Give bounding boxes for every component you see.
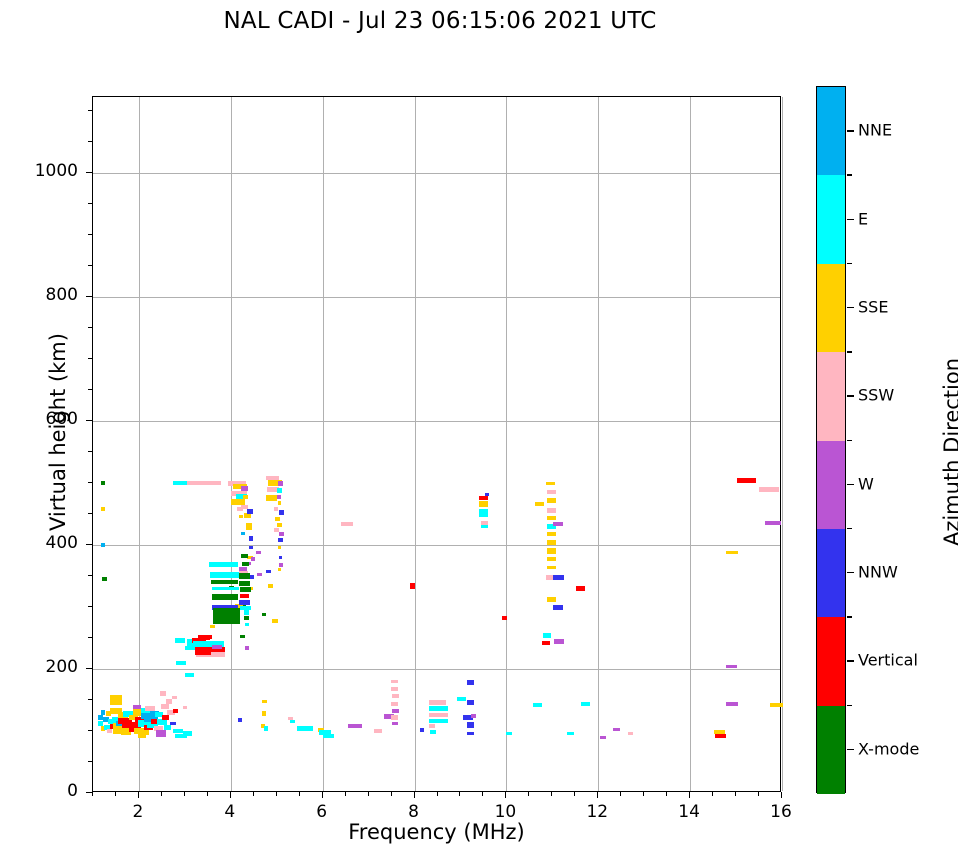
x-tick-major [230,792,231,798]
y-tick-label: 200 [16,657,78,677]
colorbar-segment-e [817,175,845,263]
x-tick-minor [528,792,529,796]
echo-mark [576,586,585,590]
y-tick-minor [88,637,92,638]
echo-mark [239,600,250,605]
echo-mark [243,495,249,499]
y-tick-minor [88,265,92,266]
colorbar-boundary-tick [847,351,852,352]
echo-mark [262,700,267,703]
echo-mark [323,734,334,738]
echo-mark [547,532,555,536]
echo-mark [274,507,279,511]
x-tick-minor [299,792,300,796]
colorbar-label-sse: SSE [858,297,888,316]
echo-mark [278,568,282,571]
echo-mark [553,522,563,526]
x-tick-minor [92,792,93,796]
echo-mark [170,722,176,726]
echo-mark [246,523,252,529]
echo-mark [244,610,250,615]
colorbar-tick [847,572,854,573]
echo-mark [279,556,283,560]
echo-mark [212,594,238,600]
echo-mark [391,680,398,684]
echo-mark [420,728,425,732]
echo-mark [239,515,244,518]
echo-mark [481,525,488,528]
echo-mark [581,702,590,706]
echo-mark [533,703,542,707]
echo-mark [410,583,416,589]
echo-mark [430,730,436,734]
echo-mark [264,726,268,730]
x-tick-label: 10 [475,802,535,822]
echo-mark [429,724,435,728]
colorbar-tick [847,484,854,485]
y-tick-major [86,792,92,793]
x-tick-minor [207,792,208,796]
x-tick-minor [459,792,460,796]
y-tick-major [86,668,92,669]
echo-mark [245,623,249,626]
colorbar-segment-nne [817,87,845,175]
echo-mark [175,638,185,643]
echo-mark [278,481,283,486]
x-tick-minor [574,792,575,796]
x-tick-major [689,792,690,798]
y-tick-minor [88,699,92,700]
y-tick-minor [88,730,92,731]
colorbar-segment-vertical [817,617,845,705]
y-tick-minor [88,389,92,390]
x-tick-major [781,792,782,798]
x-tick-major [138,792,139,798]
echo-mark [240,635,245,638]
x-tick-minor [161,792,162,796]
x-tick-minor [551,792,552,796]
echo-mark [278,546,282,550]
y-tick-minor [88,358,92,359]
x-tick-minor [758,792,759,796]
echo-mark [543,633,551,637]
x-tick-major [597,792,598,798]
y-tick-minor [88,451,92,452]
echo-mark [502,616,508,620]
echo-mark [429,719,447,723]
echo-mark [547,508,555,513]
echo-mark [547,516,555,520]
colorbar-label-ssw: SSW [858,386,894,405]
echo-mark [374,729,382,732]
x-tick-minor [391,792,392,796]
echo-mark [172,696,177,700]
echo-mark [278,501,282,505]
echo-mark [547,566,555,569]
echo-mark [166,699,172,704]
y-tick-minor [88,482,92,483]
echo-mark [240,594,249,598]
echo-mark [485,493,490,496]
x-tick-minor [184,792,185,796]
x-tick-minor [253,792,254,796]
echo-mark [471,714,477,718]
colorbar-segment-nnw [817,529,845,617]
echo-mark [391,687,398,691]
echo-mark [613,728,619,731]
echo-mark [245,646,249,649]
echo-mark [212,645,222,649]
echo-mark [429,713,447,717]
page-title: NAL CADI - Jul 23 06:15:06 2021 UTC [0,8,880,34]
y-tick-label: 1000 [16,161,78,181]
echo-mark [600,736,606,739]
echo-mark [547,557,555,561]
colorbar-title: Azimuth Direction [940,292,958,612]
echo-mark [467,700,474,706]
echo-mark [210,572,238,578]
colorbar-label-vertical: Vertical [858,651,918,670]
echo-mark [244,616,249,620]
echo-mark [759,487,778,492]
colorbar-boundary-tick [847,705,852,706]
x-tick-major [322,792,323,798]
echo-mark [547,548,555,554]
echo-mark [457,697,465,701]
echo-mark [237,507,243,511]
echo-mark [726,702,738,706]
echo-mark [547,597,555,601]
x-tick-label: 14 [659,802,719,822]
y-tick-major [86,296,92,297]
echo-mark [272,619,278,623]
colorbar-tick [847,660,854,661]
echo-mark [290,720,295,723]
echo-mark [238,718,243,722]
echo-mark [138,734,146,739]
colorbar-label-e: E [858,209,868,228]
colorbar-boundary-tick [847,263,852,264]
colorbar-boundary-tick [847,528,852,529]
echo-mark [547,540,555,546]
x-tick-minor [643,792,644,796]
x-tick-label: 4 [200,802,260,822]
echo-mark [249,546,254,550]
echo-mark [98,715,103,719]
colorbar-segment-w [817,441,845,529]
echo-mark [250,575,255,579]
echo-mark [553,575,564,580]
y-tick-minor [88,606,92,607]
echo-mark [161,704,169,709]
echo-mark [102,577,107,581]
y-tick-major [86,420,92,421]
colorbar-tick [847,749,854,750]
x-tick-minor [368,792,369,796]
echo-mark [212,587,239,591]
echo-mark [266,570,271,573]
echo-mark [241,554,247,558]
y-tick-minor [88,761,92,762]
echo-mark [467,722,474,728]
echo-mark [101,710,106,714]
echo-mark [429,706,447,711]
echo-mark [98,721,103,725]
echo-mark [546,482,554,485]
echo-mark [554,639,564,644]
echo-mark [240,587,250,592]
echo-mark [547,498,555,504]
echo-mark [251,557,256,561]
y-tick-minor [88,203,92,204]
echo-mark [535,502,543,506]
colorbar-label-w: W [858,474,874,493]
echo-mark [162,715,169,720]
echo-mark [210,625,215,628]
echo-mark [239,573,250,579]
echo-mark [256,551,261,554]
colorbar-segment-ssw [817,352,845,440]
echo-mark [176,661,186,665]
x-tick-minor [115,792,116,796]
y-tick-minor [88,234,92,235]
echo-mark [297,726,314,730]
echo-mark [156,730,166,736]
colorbar-tick [847,395,854,396]
colorbar-label-nne: NNE [858,121,892,140]
echo-mark [277,488,282,493]
echo-mark [239,581,250,586]
echo-mark [628,732,634,735]
echo-mark [107,729,112,733]
echo-mark [241,532,245,535]
echo-mark [213,608,240,624]
colorbar-segment-sse [817,264,845,352]
echo-mark [479,501,487,507]
echo-mark [542,641,549,645]
colorbar-tick [847,219,854,220]
colorbar-segment-x-mode [817,706,845,794]
echo-mark [278,538,283,542]
echo-mark [770,703,784,707]
echo-mark [183,706,188,710]
colorbar-label-nnw: NNW [858,563,898,582]
y-tick-minor [88,110,92,111]
echo-mark [160,691,166,696]
x-tick-minor [666,792,667,796]
y-tick-minor [88,513,92,514]
echo-mark [209,562,237,567]
echo-mark [547,490,555,494]
echo-mark [262,711,266,716]
echo-mark [479,496,487,501]
y-tick-minor [88,575,92,576]
echo-mark [429,700,446,704]
echo-mark [173,709,178,713]
echo-mark [110,695,122,705]
x-tick-minor [620,792,621,796]
echo-mark [765,521,782,525]
x-tick-major [414,792,415,798]
echo-mark [279,563,283,567]
echo-mark [266,495,277,501]
echo-mark [467,680,474,686]
echo-mark [195,650,211,655]
echo-mark [275,517,280,521]
colorbar-boundary-tick [847,440,852,441]
echo-mark [187,481,221,485]
y-tick-major [86,172,92,173]
azimuth-colorbar [816,86,846,793]
echo-mark [185,673,193,677]
echo-mark [242,562,248,566]
echo-mark [279,510,284,515]
echo-mark [726,551,738,555]
echo-mark [737,478,756,482]
y-tick-minor [88,327,92,328]
echo-mark [101,481,106,485]
y-tick-label: 0 [16,781,78,801]
x-tick-minor [345,792,346,796]
echo-mark [204,636,210,640]
x-tick-label: 6 [292,802,352,822]
echo-mark [506,732,512,736]
y-tick-minor [88,141,92,142]
echo-mark [391,702,398,706]
echo-mark [277,523,282,527]
x-tick-label: 12 [567,802,627,822]
echo-mark [715,734,726,738]
y-axis-title: Virtual height (km) [46,282,70,582]
x-axis-title: Frequency (MHz) [92,820,781,844]
x-tick-minor [276,792,277,796]
echo-mark [164,725,171,730]
echo-mark [183,731,192,736]
echo-mark [241,486,247,491]
x-tick-major [505,792,506,798]
echo-mark [391,715,397,719]
echo-mark [268,584,273,587]
x-tick-label: 2 [108,802,168,822]
echo-mark [211,580,239,584]
echo-mark [392,722,398,726]
colorbar-boundary-tick [847,174,852,175]
ionogram-plot-area [92,96,781,792]
echo-mark [348,724,362,728]
colorbar-tick [847,307,854,308]
echo-mark [341,522,353,526]
echo-mark [257,573,262,576]
colorbar-boundary-tick [847,616,852,617]
echo-mark [276,495,281,499]
echo-mark [249,536,254,541]
echo-mark [262,613,267,616]
echo-mark [392,694,399,698]
echo-mark [467,732,473,735]
echo-mark [279,532,284,536]
echo-marks-layer [93,97,780,791]
echo-mark [553,605,563,610]
echo-mark [567,732,573,736]
x-tick-minor [735,792,736,796]
colorbar-label-x-mode: X-mode [858,739,919,758]
echo-mark [479,509,487,516]
echo-mark [101,507,106,511]
x-tick-label: 8 [384,802,444,822]
x-tick-minor [482,792,483,796]
echo-mark [101,543,106,547]
echo-mark [247,509,253,514]
colorbar-tick [847,130,854,131]
x-tick-label: 16 [751,802,811,822]
y-tick-major [86,544,92,545]
x-tick-minor [712,792,713,796]
echo-mark [726,665,738,669]
gridline-vertical [782,97,783,791]
x-tick-minor [437,792,438,796]
